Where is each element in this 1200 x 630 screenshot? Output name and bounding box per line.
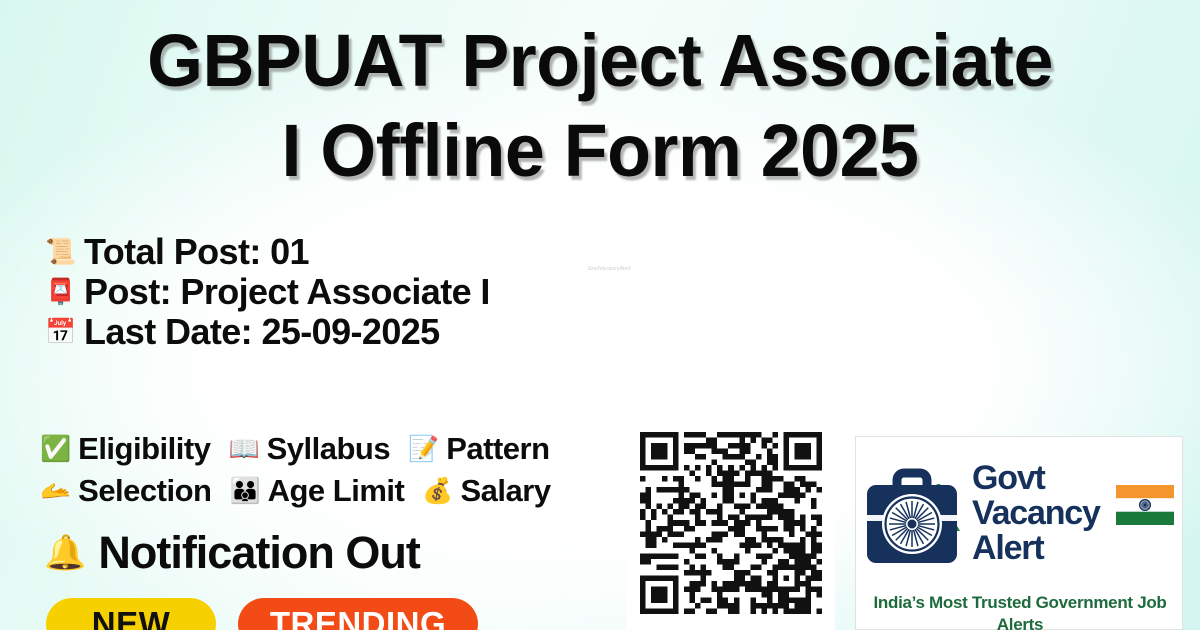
feature-age-limit: 👪 Age Limit bbox=[229, 470, 404, 512]
notification-banner: 🔔 Notification Out bbox=[44, 527, 420, 579]
feature-row-2: 🫴 Selection 👪 Age Limit 💰 Salary bbox=[40, 470, 640, 512]
money-bag-icon: 💰 bbox=[422, 479, 453, 504]
stamp-icon: 📮 bbox=[44, 280, 78, 305]
selection-hand-icon: 🫴 bbox=[40, 479, 71, 504]
feature-row-1: ✅ Eligibility 📖 Syllabus 📝 Pattern bbox=[40, 428, 640, 470]
bell-icon: 🔔 bbox=[44, 536, 86, 570]
info-total-post-label: Total Post: 01 bbox=[84, 232, 309, 272]
check-mark-icon: ✅ bbox=[40, 437, 71, 462]
brand-word-govt: Govt bbox=[972, 461, 1100, 496]
feature-syllabus: 📖 Syllabus bbox=[228, 428, 390, 470]
info-row-total-post: 📜 Total Post: 01 bbox=[44, 232, 490, 272]
title-line-2: I Offline Form 2025 bbox=[18, 106, 1182, 196]
qr-code[interactable] bbox=[640, 432, 822, 614]
brand-logo-card: Govt Vacancy Alert India’s Most Trusted … bbox=[855, 436, 1183, 630]
feature-pattern-label: Pattern bbox=[446, 428, 549, 470]
watermark-text: GovtVacancyAlert bbox=[588, 266, 631, 272]
poster: GBPUAT Project Associate I Offline Form … bbox=[0, 0, 1200, 630]
status-badge-new[interactable]: NEW bbox=[46, 598, 216, 630]
feature-eligibility: ✅ Eligibility bbox=[40, 428, 210, 470]
feature-selection: 🫴 Selection bbox=[40, 470, 211, 512]
feature-salary-label: Salary bbox=[460, 470, 550, 512]
feature-syllabus-label: Syllabus bbox=[267, 428, 391, 470]
status-badge-trending[interactable]: TRENDING bbox=[238, 598, 478, 630]
notification-label: Notification Out bbox=[98, 527, 419, 579]
title-line-1: GBPUAT Project Associate bbox=[18, 16, 1182, 106]
exam-paper-icon: 📝 bbox=[408, 437, 439, 462]
brand-word-vacancy: Vacancy bbox=[972, 496, 1100, 531]
brand-wordmark: Govt Vacancy Alert bbox=[968, 461, 1100, 566]
feature-selection-label: Selection bbox=[78, 470, 211, 512]
info-row-post: 📮 Post: Project Associate I bbox=[44, 272, 490, 312]
briefcase-handle bbox=[897, 473, 927, 485]
info-list: 📜 Total Post: 01 📮 Post: Project Associa… bbox=[44, 232, 490, 352]
brand-word-alert: Alert bbox=[972, 531, 1100, 566]
open-book-icon: 📖 bbox=[228, 437, 259, 462]
info-row-last-date: 📅 Last Date: 25-09-2025 bbox=[44, 312, 490, 352]
india-flag-icon bbox=[1116, 485, 1174, 525]
brand-tagline: India’s Most Trusted Government Job Aler… bbox=[856, 592, 1184, 630]
calendar-icon: 📅 bbox=[44, 320, 78, 345]
badge-row: NEW TRENDING bbox=[46, 598, 478, 630]
qr-code-card[interactable] bbox=[627, 419, 835, 630]
page-title: GBPUAT Project Associate I Offline Form … bbox=[0, 16, 1200, 196]
document-search-icon: 📜 bbox=[44, 240, 78, 265]
family-icon: 👪 bbox=[229, 479, 260, 504]
ashoka-chakra-icon bbox=[882, 494, 942, 554]
feature-pattern: 📝 Pattern bbox=[408, 428, 549, 470]
feature-eligibility-label: Eligibility bbox=[78, 428, 210, 470]
info-post-label: Post: Project Associate I bbox=[84, 272, 490, 312]
brand-logo-main: Govt Vacancy Alert bbox=[856, 443, 1182, 583]
info-last-date-label: Last Date: 25-09-2025 bbox=[84, 312, 440, 352]
feature-grid: ✅ Eligibility 📖 Syllabus 📝 Pattern 🫴 Sel… bbox=[40, 428, 640, 512]
feature-salary: 💰 Salary bbox=[422, 470, 550, 512]
feature-age-limit-label: Age Limit bbox=[268, 470, 405, 512]
briefcase-bell-logo-icon bbox=[864, 455, 968, 571]
